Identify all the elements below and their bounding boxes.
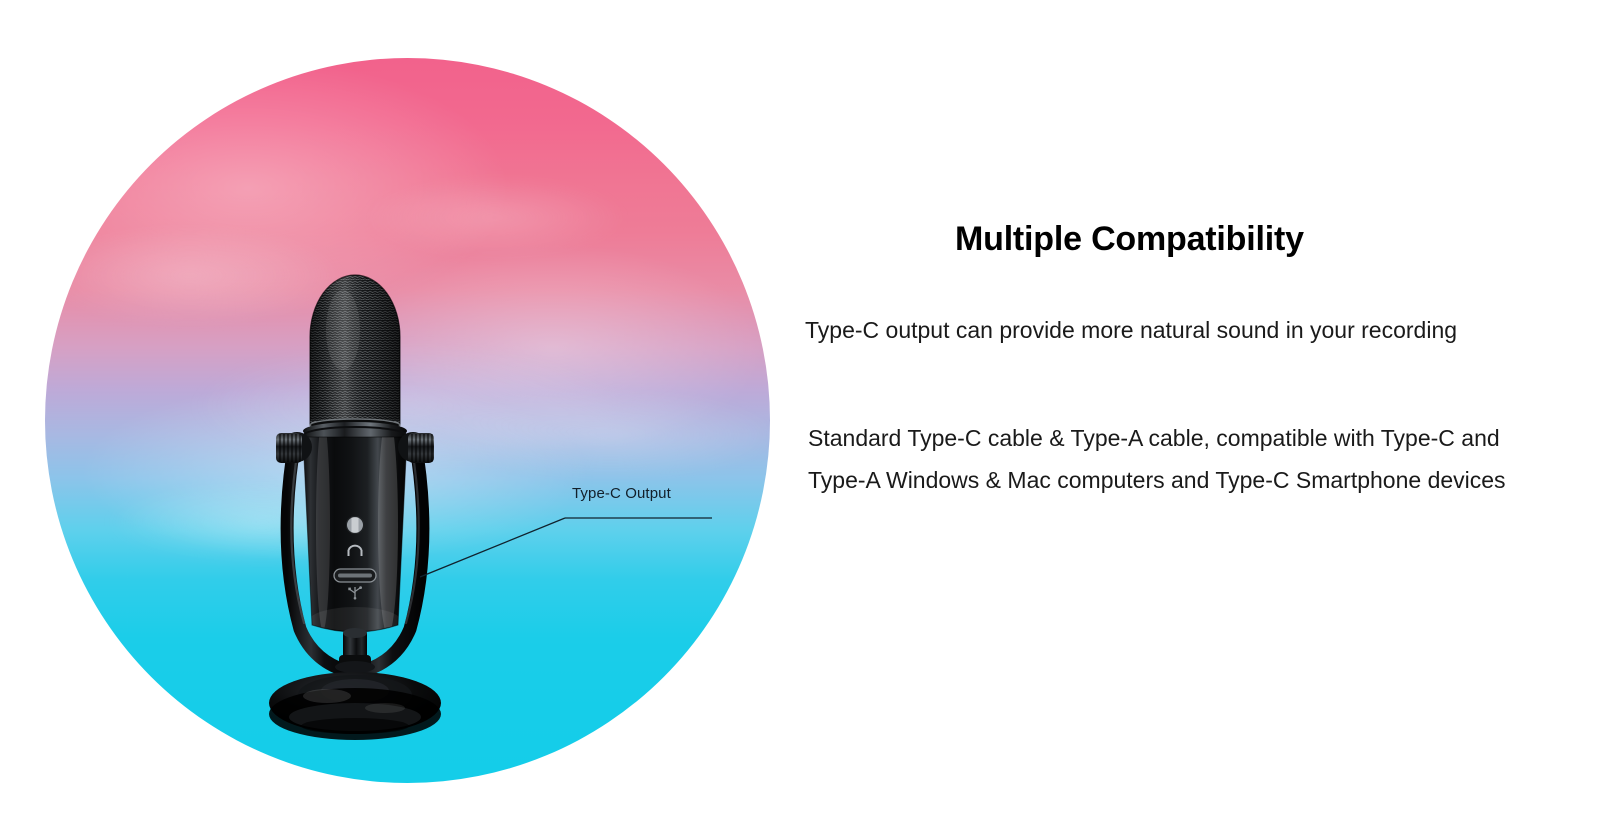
mic-base bbox=[269, 672, 441, 740]
product-feature-page: Type-C Output Multiple Compatibility Typ… bbox=[0, 0, 1600, 833]
mic-knob-right bbox=[398, 432, 434, 463]
usb-c-port-icon bbox=[334, 569, 376, 582]
volume-knob-icon bbox=[347, 517, 364, 534]
mic-neck bbox=[335, 628, 375, 673]
marketing-copy-panel: Multiple Compatibility Type-C output can… bbox=[800, 0, 1600, 833]
page-title: Multiple Compatibility bbox=[955, 220, 1304, 259]
mic-grille-head bbox=[305, 270, 410, 435]
feature-paragraph-1: Type-C output can provide more natural s… bbox=[805, 309, 1525, 351]
mic-knob-left bbox=[276, 432, 312, 463]
feature-paragraph-2: Standard Type-C cable & Type-A cable, co… bbox=[808, 417, 1518, 501]
product-image-panel: Type-C Output bbox=[0, 0, 800, 833]
microphone-illustration bbox=[255, 225, 555, 770]
